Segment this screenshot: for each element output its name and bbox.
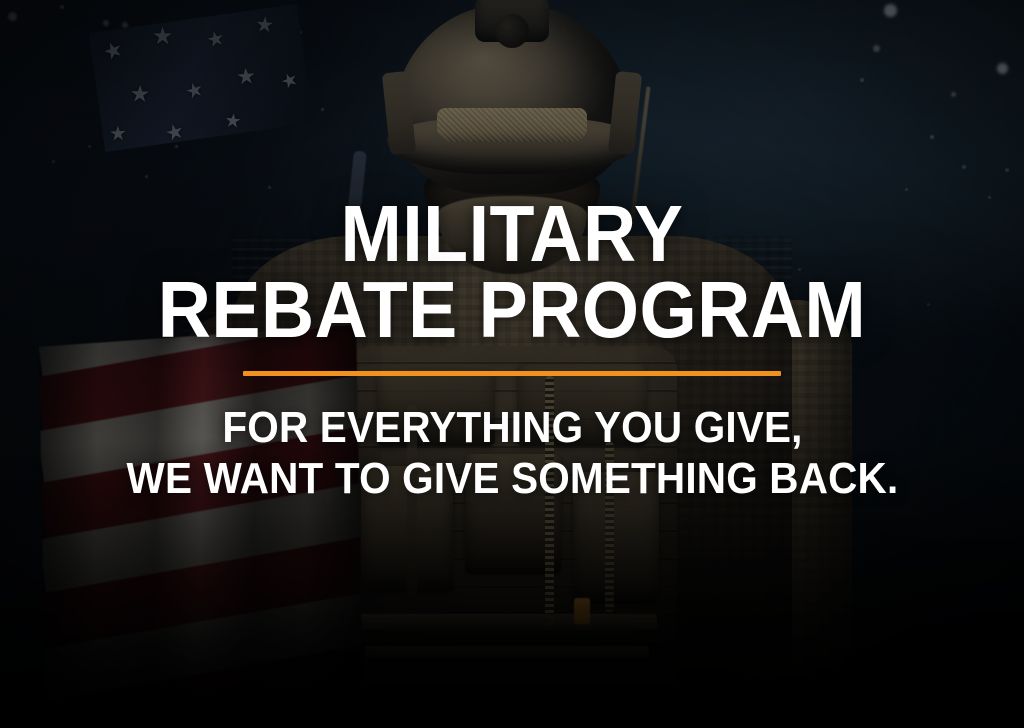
orange-divider-rule [243, 371, 781, 376]
subheadline-line-1: FOR EVERYTHING YOU GIVE, [222, 403, 802, 452]
headline: MILITARY REBATE PROGRAM [158, 196, 866, 348]
subheadline-line-2: WE WANT TO GIVE SOMETHING BACK. [126, 453, 898, 504]
headline-line-2: REBATE PROGRAM [158, 272, 866, 348]
military-rebate-program-banner: ★ ★ ★ ★ ★ ★ ★ ★ ★ ★ ★ MILITARY REBATE PR… [0, 0, 1024, 728]
banner-content: MILITARY REBATE PROGRAM FOR EVERYTHING Y… [0, 0, 1024, 728]
subheadline: FOR EVERYTHING YOU GIVE, WE WANT TO GIVE… [126, 402, 898, 504]
